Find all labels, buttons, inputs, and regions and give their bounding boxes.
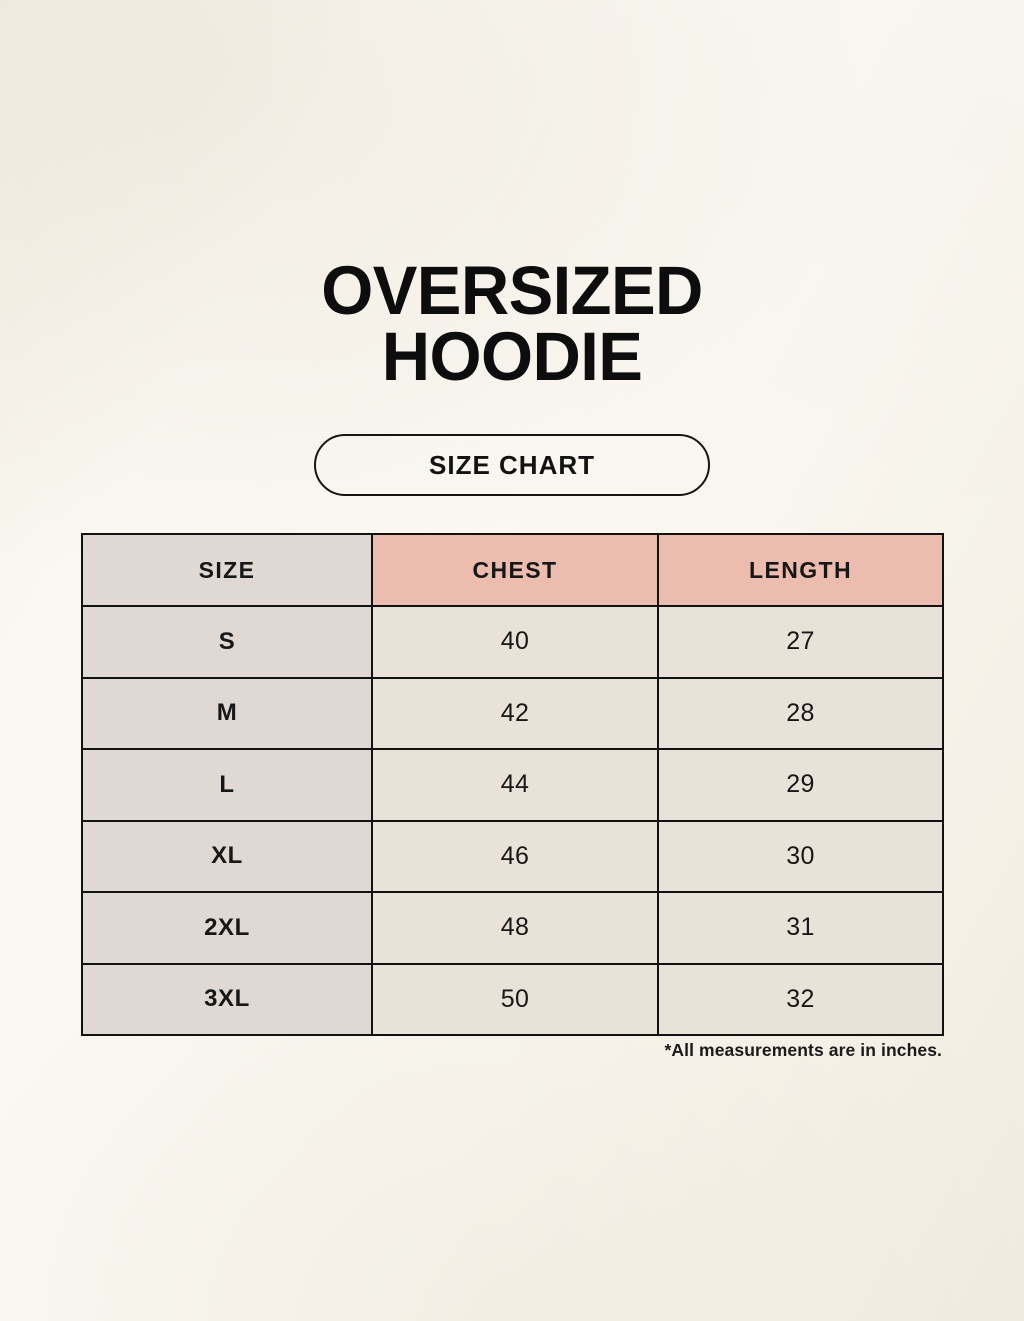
- cell-size: S: [82, 606, 372, 678]
- table-row: S 40 27: [82, 606, 943, 678]
- size-chart-table: SIZE CHEST LENGTH S 40 27 M 42 28 L 44 2…: [81, 533, 944, 1036]
- cell-size: M: [82, 678, 372, 750]
- title-line-1: OVERSIZED: [15, 258, 1008, 324]
- table-row: 3XL 50 32: [82, 964, 943, 1036]
- size-chart-badge-label: SIZE CHART: [429, 450, 595, 481]
- title-line-2: HOODIE: [15, 324, 1008, 390]
- page-title: OVERSIZED HOODIE: [0, 258, 1024, 390]
- badge-container: SIZE CHART: [0, 434, 1024, 496]
- table-row: XL 46 30: [82, 821, 943, 893]
- cell-length: 31: [658, 892, 943, 964]
- table-row: M 42 28: [82, 678, 943, 750]
- table-row: L 44 29: [82, 749, 943, 821]
- cell-length: 28: [658, 678, 943, 750]
- table-header-row: SIZE CHEST LENGTH: [82, 534, 943, 606]
- measurements-footnote: *All measurements are in inches.: [665, 1040, 942, 1061]
- cell-length: 29: [658, 749, 943, 821]
- cell-chest: 50: [372, 964, 658, 1036]
- cell-chest: 42: [372, 678, 658, 750]
- cell-chest: 44: [372, 749, 658, 821]
- cell-length: 30: [658, 821, 943, 893]
- cell-chest: 48: [372, 892, 658, 964]
- cell-size: L: [82, 749, 372, 821]
- table-body: S 40 27 M 42 28 L 44 29 XL 46 30 2XL 48: [82, 606, 943, 1035]
- table-header: SIZE CHEST LENGTH: [82, 534, 943, 606]
- size-chart-badge: SIZE CHART: [314, 434, 710, 496]
- column-header-length: LENGTH: [658, 534, 943, 606]
- size-chart-page: OVERSIZED HOODIE SIZE CHART SIZE CHEST L…: [0, 0, 1024, 1321]
- column-header-size: SIZE: [82, 534, 372, 606]
- cell-size: 2XL: [82, 892, 372, 964]
- cell-length: 32: [658, 964, 943, 1036]
- cell-length: 27: [658, 606, 943, 678]
- cell-size: 3XL: [82, 964, 372, 1036]
- column-header-chest: CHEST: [372, 534, 658, 606]
- cell-chest: 40: [372, 606, 658, 678]
- table-row: 2XL 48 31: [82, 892, 943, 964]
- cell-chest: 46: [372, 821, 658, 893]
- cell-size: XL: [82, 821, 372, 893]
